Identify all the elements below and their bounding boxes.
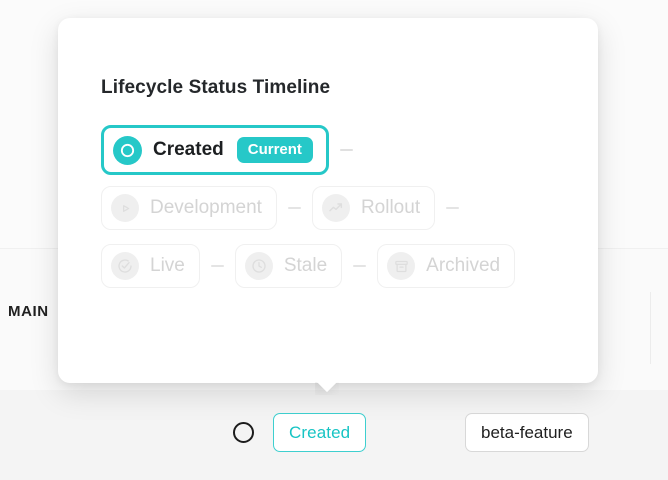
- tag-chip-label: beta-feature: [481, 423, 573, 443]
- stage-rollout[interactable]: Rollout: [312, 186, 435, 230]
- status-chip-label: Created: [289, 423, 350, 443]
- stage-label-live: Live: [150, 255, 185, 277]
- popover-title: Lifecycle Status Timeline: [101, 77, 330, 99]
- stage-label-created: Created: [153, 139, 224, 161]
- stage-label-rollout: Rollout: [361, 197, 420, 219]
- stage-wrap-live: Live: [101, 237, 235, 295]
- circle-dot-icon: [113, 136, 142, 165]
- stage-wrap-rollout: Rollout: [312, 179, 470, 237]
- row-divider: [650, 292, 651, 364]
- stage-label-archived: Archived: [426, 255, 500, 277]
- stage-stale[interactable]: Stale: [235, 244, 342, 288]
- timeline-flow: Created Current Development: [101, 121, 561, 295]
- archive-box-icon: [387, 252, 415, 280]
- lifecycle-timeline-popover: Lifecycle Status Timeline Created Curren…: [58, 18, 598, 383]
- section-label: MAIN: [8, 303, 49, 320]
- stage-live[interactable]: Live: [101, 244, 200, 288]
- stage-created[interactable]: Created Current: [101, 125, 329, 175]
- connector-5: [353, 265, 366, 267]
- tag-chip-beta-feature[interactable]: beta-feature: [465, 413, 589, 452]
- status-row: Created beta-feature: [0, 403, 668, 461]
- stage-archived[interactable]: Archived: [377, 244, 515, 288]
- check-circle-icon: [111, 252, 139, 280]
- stage-wrap-development: Development: [101, 179, 312, 237]
- trending-up-icon: [322, 194, 350, 222]
- circle-outline-icon: [233, 422, 254, 443]
- clock-icon: [245, 252, 273, 280]
- status-badge-current: Current: [237, 137, 313, 163]
- popover-arrow: [315, 382, 339, 395]
- play-circle-icon: [111, 194, 139, 222]
- stage-development[interactable]: Development: [101, 186, 277, 230]
- connector-2: [288, 207, 301, 209]
- stage-wrap-stale: Stale: [235, 237, 377, 295]
- connector-4: [211, 265, 224, 267]
- status-chip-created[interactable]: Created: [273, 413, 366, 452]
- stage-label-development: Development: [150, 197, 262, 219]
- connector-1: [340, 149, 353, 151]
- connector-3: [446, 207, 459, 209]
- stage-label-stale: Stale: [284, 255, 327, 277]
- stage-wrap-created: Created Current: [101, 121, 364, 179]
- stage-wrap-archived: Archived: [377, 237, 515, 295]
